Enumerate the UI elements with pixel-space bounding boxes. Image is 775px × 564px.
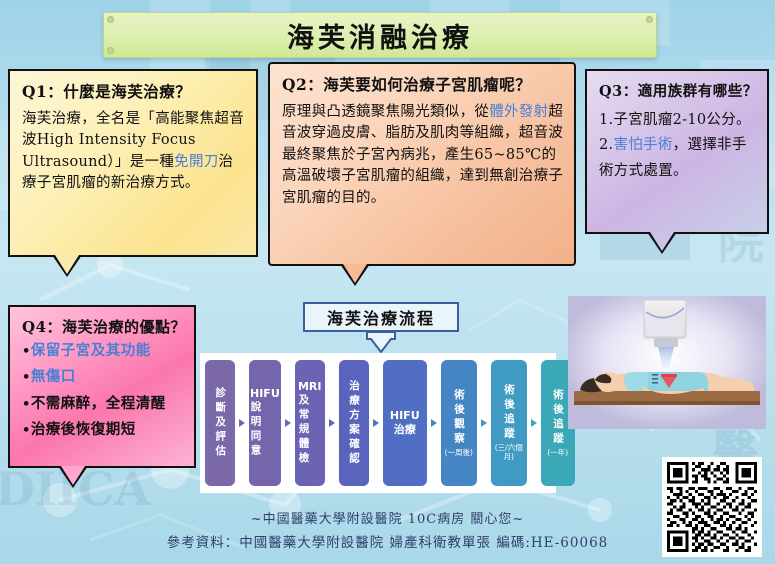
q2-heading: Q2：海芙要如何治療子宮肌瘤呢？ [282,73,564,95]
faq-bubble-q2: Q2：海芙要如何治療子宮肌瘤呢？ 原理與凸透鏡聚焦陽光類似，從體外發射超音波穿過… [268,62,576,266]
q3-body: 1.子宮肌瘤2-10公分。 2.害怕手術，選擇非手術方式處置。 [599,108,757,184]
flow-step-7-sub: (三/六個月) [492,444,526,461]
q4-item-0: •保留子宮及其功能 [22,343,184,359]
flow-arrow-icon-3 [325,360,339,486]
flow-title-box: 海芙治療流程 [303,302,459,332]
flow-step-1[interactable]: 診斷及評估 [205,360,235,486]
flow-arrow-icon-7 [527,360,541,486]
poster-canvas: DIICA 醫 院 海芙消融治療 Q1：什麼是海芙治療？ 海芙治療，全名是「高能… [0,0,775,564]
banner-pin-right [646,16,653,23]
banner-pin-left [107,16,114,23]
banner-pin-bottom-left [107,47,114,54]
flow-step-2[interactable]: HIFU說明同意 [249,360,281,486]
flow-step-7-label: 術後追蹤 [504,384,515,442]
faq-bubble-q4: Q4：海芙治療的優點？ •保留子宮及其功能 •無傷口 •不需麻醉，全程清醒 •治… [8,305,196,468]
treatment-flow-panel: 診斷及評估HIFU說明同意MRI及常規體檢治療方案確認HIFU 治療術後觀察(一… [200,353,556,493]
q4-item-2-text: 不需麻醉，全程清醒 [31,395,166,412]
q4-bullet-0: • [22,344,31,359]
q1-heading: Q1：什麼是海芙治療？ [22,80,246,102]
flow-step-2-code: HIFU [250,387,280,401]
flow-step-3[interactable]: MRI及常規體檢 [295,360,325,486]
q4-item-1-text: 無傷口 [31,368,76,385]
flow-down-arrow-icon [363,332,399,354]
flow-step-3-label: MRI及常規體檢 [298,380,322,466]
q4-heading: Q4：海芙治療的優點？ [22,316,184,337]
hifu-treatment-illustration [568,296,766,429]
q4-bubble-tail-fill [61,466,85,485]
page-title: 海芙消融治療 [287,16,473,55]
flow-step-row: 診斷及評估HIFU說明同意MRI及常規體檢治療方案確認HIFU 治療術後觀察(一… [200,353,556,493]
q4-item-0-text: 保留子宮及其功能 [31,342,151,359]
page-title-banner: 海芙消融治療 [103,12,657,58]
flow-step-2-text: 說明同意 [250,401,261,459]
flow-step-5[interactable]: HIFU 治療 [383,360,427,486]
hifu-illustration-svg [568,296,766,429]
q3-item-2: 2.害怕手術，選擇非手術方式處置。 [599,133,757,184]
q4-item-3: •治療後恢復期短 [22,422,184,438]
q4-bullet-1: • [22,370,31,385]
faq-bubble-q1: Q1：什麼是海芙治療？ 海芙治療，全名是「高能聚焦超音波High Intensi… [8,69,258,257]
flow-arrow-icon-5 [427,360,441,486]
q4-item-3-text: 治療後恢復期短 [31,421,136,438]
footer-line-2: 參考資料：中國醫藥大學附設醫院 婦產科衛教單張 編碼:HE-60068 [0,531,775,551]
q2-bubble-tail-fill [343,264,367,283]
flow-step-4-label: 治療方案確認 [349,380,360,467]
flow-step-6-label: 術後觀察 [454,389,465,447]
flow-step-6-sub: (一周後) [445,449,473,458]
flow-step-4[interactable]: 治療方案確認 [339,360,369,486]
q2-highlight: 體外發射 [489,104,548,120]
q3-item-1: 1.子宮肌瘤2-10公分。 [599,108,757,133]
flow-step-8-sub: (一年) [547,449,568,458]
q3-heading: Q3：適用族群有哪些？ [599,80,757,101]
q1-bubble-tail-fill [55,255,79,274]
faq-bubble-q3: Q3：適用族群有哪些？ 1.子宮肌瘤2-10公分。 2.害怕手術，選擇非手術方式… [585,69,769,234]
q2-body-part1: 原理與凸透鏡聚焦陽光類似，從 [282,104,489,120]
footer: ~中國醫藥大學附設醫院 10C病房 關心您~ 參考資料：中國醫藥大學附設醫院 婦… [0,508,775,551]
q4-bullet-2: • [22,397,31,412]
flow-title-label: 海芙治療流程 [327,305,435,329]
flow-step-1-label: 診斷及評估 [215,387,226,460]
flow-step-8-label: 術後追蹤 [553,389,564,447]
flow-step-2-label: HIFU說明同意 [250,387,280,459]
footer-line-1: ~中國醫藥大學附設醫院 10C病房 關心您~ [0,508,775,527]
flow-arrow-icon-6 [477,360,491,486]
q3-item-2-highlight: 害怕手術 [613,137,672,153]
q4-bullet-3: • [22,423,31,438]
q3-item-2-prefix: 2. [599,137,613,153]
flow-step-7[interactable]: 術後追蹤(三/六個月) [491,360,527,486]
q2-body: 原理與凸透鏡聚焦陽光類似，從體外發射超音波穿過皮膚、脂肪及肌肉等組織，超音波最終… [282,102,564,209]
flow-step-3-text: 及常規體檢 [298,394,309,467]
flow-arrow-icon-4 [369,360,383,486]
flow-step-5-label: HIFU 治療 [390,409,420,437]
q4-item-1: •無傷口 [22,369,184,385]
q4-item-2: •不需麻醉，全程清醒 [22,396,184,412]
flow-step-6[interactable]: 術後觀察(一周後) [441,360,477,486]
flow-arrow-icon-1 [235,360,249,486]
q1-highlight: 免開刀 [174,154,218,170]
q3-bubble-tail-fill [650,232,674,251]
q1-body: 海芙治療，全名是「高能聚焦超音波High Intensity Focus Ult… [22,109,246,195]
flow-step-3-code: MRI [298,380,322,394]
flow-arrow-icon-2 [281,360,295,486]
